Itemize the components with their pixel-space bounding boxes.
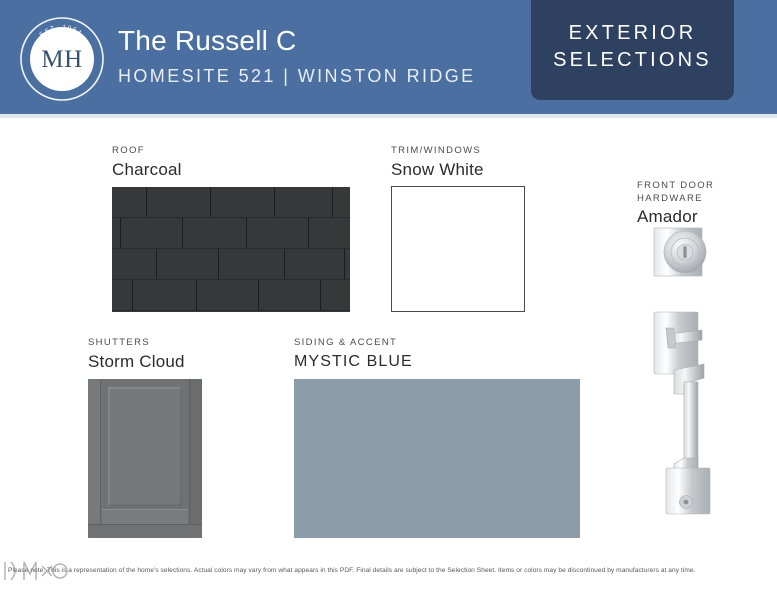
selection-name-siding: MYSTIC BLUE: [294, 351, 413, 373]
exterior-selections-panel: EXTERIOR SELECTIONS: [531, 0, 734, 100]
logo-badge-icon: MH EST. 1954 MUNGO HOMES: [19, 16, 105, 102]
panel-title-line2: SELECTIONS: [553, 47, 712, 74]
homesite-community-subtitle: HOMESITE 521 | WINSTON RIDGE: [118, 64, 518, 88]
swatch-front-door-hardware: [640, 222, 740, 522]
category-label-trim: TRIM/WINDOWS: [391, 145, 484, 158]
swatch-trim-windows: [391, 186, 525, 312]
selection-name-shutters: Storm Cloud: [88, 351, 185, 373]
svg-text:MH: MH: [41, 46, 82, 73]
mungo-homes-logo: MH EST. 1954 MUNGO HOMES: [19, 16, 105, 102]
selection-label-hardware: FRONT DOOR HARDWARE Amador: [637, 180, 714, 228]
selection-name-roof: Charcoal: [112, 159, 182, 181]
selection-name-trim: Snow White: [391, 159, 484, 181]
shutter-bottom-rail: [102, 509, 188, 524]
page-header: MH EST. 1954 MUNGO HOMES The Russell C H…: [0, 0, 777, 118]
door-hardware-icon: [640, 222, 740, 522]
category-label-roof: ROOF: [112, 145, 182, 158]
shutter-base: [88, 524, 202, 538]
shingle-row: [112, 280, 350, 311]
selection-label-roof: ROOF Charcoal: [112, 145, 182, 181]
category-label-hardware-line1: FRONT DOOR: [637, 180, 714, 193]
selection-label-siding: SIDING & ACCENT MYSTIC BLUE: [294, 337, 413, 373]
swatch-shutters: [88, 379, 202, 538]
shutter-right-stile: [189, 379, 202, 538]
swatch-siding-accent: [294, 379, 580, 538]
title-block: The Russell C HOMESITE 521 | WINSTON RID…: [118, 22, 518, 88]
swatch-roof: [112, 187, 350, 312]
selection-label-shutters: SHUTTERS Storm Cloud: [88, 337, 185, 373]
panel-title-line1: EXTERIOR: [569, 20, 697, 47]
selection-label-trim: TRIM/WINDOWS Snow White: [391, 145, 484, 181]
shingle-row: [112, 218, 350, 249]
category-label-siding: SIDING & ACCENT: [294, 337, 413, 350]
header-underline: [0, 114, 777, 118]
shutter-recessed-panel: [108, 387, 182, 506]
shingle-row: [112, 187, 350, 218]
category-label-shutters: SHUTTERS: [88, 337, 185, 350]
disclaimer-note: Please note: This is a representation of…: [8, 566, 773, 575]
home-plan-title: The Russell C: [118, 22, 518, 60]
category-label-hardware-line2: HARDWARE: [637, 193, 714, 206]
shingle-row: [112, 249, 350, 280]
shutter-left-stile: [88, 379, 101, 538]
